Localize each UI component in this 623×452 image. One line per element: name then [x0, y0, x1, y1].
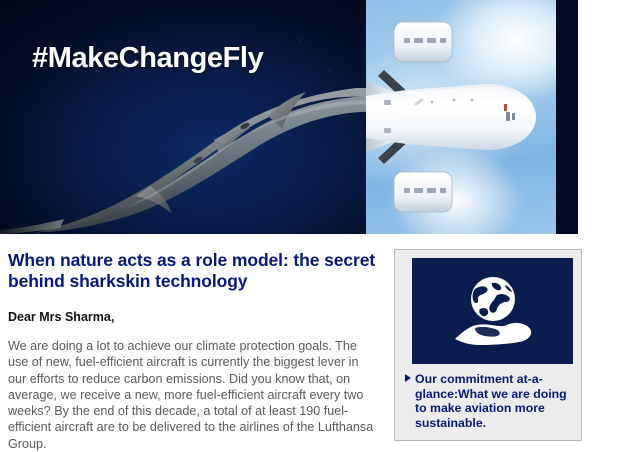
article-body: We are doing a lot to achieve our climat… [8, 338, 376, 452]
hero-right-edge [556, 0, 578, 234]
content-area: When nature acts as a role model: the se… [0, 234, 623, 449]
promo-image [412, 258, 573, 364]
salutation: Dear Mrs Sharma, [8, 309, 376, 325]
page-title: When nature acts as a role model: the se… [8, 250, 376, 292]
commitment-link-label: Our commitment at-a-glance:What we are d… [415, 372, 573, 430]
sidebar-promo-panel: Our commitment at-a-glance:What we are d… [394, 249, 582, 441]
article-column: When nature acts as a role model: the se… [8, 250, 376, 452]
triangle-right-icon [405, 374, 411, 382]
hero-banner: #MakeChangeFly [0, 0, 578, 234]
shark-icon [0, 88, 380, 234]
aircraft-icon [366, 0, 556, 234]
commitment-link[interactable]: Our commitment at-a-glance:What we are d… [405, 372, 573, 430]
hero-hashtag: #MakeChangeFly [32, 42, 263, 75]
sky-panel [366, 0, 556, 234]
globe-in-hand-icon [451, 273, 535, 349]
